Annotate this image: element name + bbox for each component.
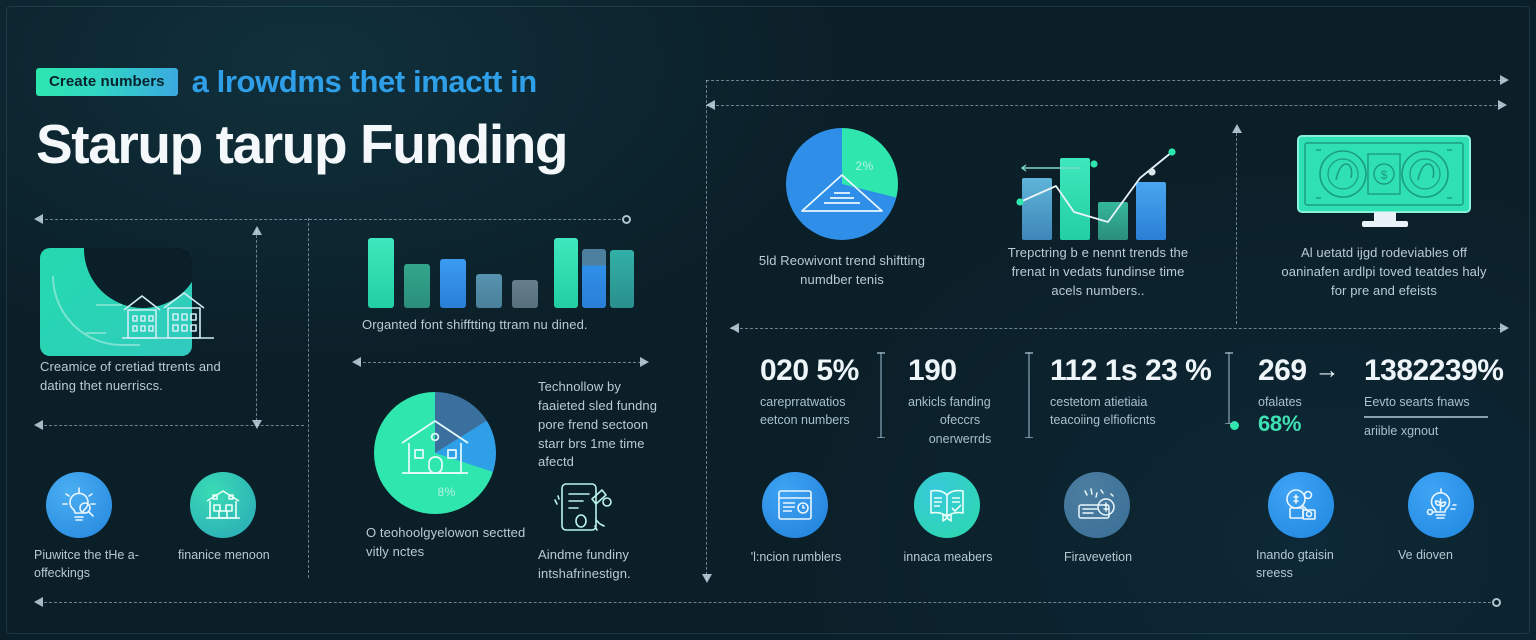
stat-divider-1 [880, 352, 882, 438]
stat-subtitle: Eevto searts fnaws [1364, 393, 1514, 412]
guide-arrow-left-mid-2-r [640, 357, 649, 367]
guide-arrow-top-left-2 [706, 100, 715, 110]
document-report-icon [774, 484, 816, 526]
icon-badge-open-book[interactable] [914, 472, 980, 538]
create-numbers-badge[interactable]: Create numbers [36, 68, 178, 96]
stat-item-2: 190 ankicls fanding ofeccrs onerwerrds [908, 355, 1012, 449]
bar-3 [440, 259, 466, 308]
icon-caption-bank-building: finanice menoon [178, 546, 298, 564]
pie-chart-right: 2% [786, 128, 898, 240]
icon-caption-search-money: Inando gtaisin sreess [1256, 546, 1366, 582]
eyebrow-text: a lrowdms thet imactt in [192, 64, 537, 100]
guide-node-bottom-right [1492, 598, 1501, 607]
stat-value: 269 [1258, 355, 1307, 387]
guide-arrow-left-vert-up [252, 226, 262, 235]
bar-2 [404, 264, 430, 308]
bar-4 [476, 274, 502, 308]
icon-caption-money-coin: Firavevetion [1038, 548, 1158, 566]
guide-line-left-vert [256, 230, 257, 426]
stat-sub-line: Eevto searts fnaws [1364, 393, 1514, 412]
guide-arrow-left-mid [34, 420, 43, 430]
combo-point-2 [1090, 160, 1097, 167]
pie-chart-left: 8% [374, 392, 496, 514]
guide-arrow-top-right-2 [1498, 100, 1507, 110]
icon-badge-lightbulb-plant[interactable] [1408, 472, 1474, 538]
combo-bar-line-chart [1012, 140, 1184, 240]
combo-chart-caption: Trepctring b e nennt trends the frenat i… [1000, 244, 1196, 301]
page-header: Create numbers a lrowdms thet imactt in … [36, 64, 676, 174]
combo-bar-4 [1136, 182, 1166, 240]
banknote-monitor-icon: $ [1296, 134, 1472, 228]
guide-line-vert-right [1236, 128, 1237, 324]
guide-arrow-bottom-left [34, 597, 43, 607]
guide-arrow-mid-right [1500, 323, 1509, 333]
guide-arrow-left-mid-2 [352, 357, 361, 367]
stat-sub-line: onerwerrds [908, 430, 1012, 449]
combo-point-4 [1148, 168, 1155, 175]
card-tick-2 [86, 332, 106, 334]
invoice-document-icon [552, 480, 614, 542]
guide-arrow-left-top [34, 214, 43, 224]
pie-right-label: 2% [855, 159, 873, 173]
guide-arrow-mid-left [730, 323, 739, 333]
invoice-caption: Aindme fundiny intshafrinestign. [538, 546, 664, 584]
lightbulb-idea-icon [58, 484, 100, 526]
icon-badge-document-report[interactable] [762, 472, 828, 538]
bar-8 [610, 250, 634, 308]
guide-line-left-top [40, 219, 626, 220]
stat-subtitle: careprratwatios eetcon numbers [760, 393, 880, 431]
stat-value: 1382239% [1364, 355, 1514, 387]
stat-rule-label: ariible xgnout [1364, 422, 1514, 441]
bank-building-icon [202, 484, 244, 526]
guide-arrow-vert-up [1232, 124, 1242, 133]
money-coin-icon [1075, 485, 1119, 525]
icon-caption-lightbulb-plant: Ve dioven [1398, 546, 1508, 564]
icon-caption-document-report: 'l:ncion rumblers [736, 548, 856, 566]
icon-caption-lightbulb-idea: Piuwitce the tHe a-offeckings [34, 546, 154, 582]
stat-arrow-icon: → [1315, 358, 1340, 383]
stat-sub-line: teacoiing elfioficnts [1050, 411, 1210, 430]
buildings-icon [120, 288, 216, 346]
pie-left-caption: O teohoolgyelowon sectted vitly nctes [366, 524, 526, 562]
icon-badge-bank-building[interactable] [190, 472, 256, 538]
guide-line-vert-center-lower [706, 330, 707, 580]
stat-sub-line: cestetom atietiaia [1050, 393, 1210, 412]
guide-line-left-vert-2 [308, 218, 309, 578]
guide-arrow-vert-down [702, 574, 712, 583]
infographic-canvas: Create numbers a lrowdms thet imactt in … [0, 0, 1536, 640]
eyebrow-row: Create numbers a lrowdms thet imactt in [36, 64, 676, 100]
stat-value: 020 5% [760, 355, 880, 387]
search-money-icon [1280, 484, 1322, 526]
guide-line-left-mid-2 [358, 362, 646, 363]
guide-line-mid-right [730, 328, 1506, 329]
stat-sub-line: eetcon numbers [760, 411, 880, 430]
stat-sub-line: ankicls fanding [908, 393, 1012, 412]
svg-text:$: $ [1381, 168, 1388, 182]
stat-sub-line: careprratwatios [760, 393, 880, 412]
open-book-icon [925, 485, 969, 525]
guide-arrow-top-right [1500, 75, 1509, 85]
icon-badge-money-coin[interactable] [1064, 472, 1130, 538]
house-icon [398, 417, 472, 479]
stat-value: 190 [908, 355, 1012, 387]
lightbulb-plant-icon [1420, 484, 1462, 526]
money-monitor-caption: Al uetatd ijgd rodeviables off oaninafen… [1276, 244, 1492, 301]
pie-right-caption: 5ld Reowivont trend shiftting numdber te… [752, 252, 932, 290]
guide-line-top-right [706, 80, 1506, 81]
stat-item-3: 112 1s 23 % cestetom atietiaia teacoiing… [1050, 355, 1210, 430]
combo-point-3 [1168, 148, 1175, 155]
guide-line-top-right-2 [706, 105, 1502, 106]
combo-bar-1 [1022, 178, 1052, 240]
guide-line-vert-center [706, 80, 707, 330]
icon-badge-search-money[interactable] [1268, 472, 1334, 538]
combo-point-1 [1016, 198, 1023, 205]
stat-underline [1364, 416, 1488, 418]
stat-item-5: 1382239% Eevto searts fnaws ariible xgno… [1364, 355, 1514, 441]
stat-divider-3 [1228, 352, 1230, 424]
icon-badge-lightbulb-idea[interactable] [46, 472, 112, 538]
stat-divider-2 [1028, 352, 1030, 438]
guide-line-bottom [44, 602, 1496, 603]
mid-note-text: Technollow by faaieted sled fundng pore … [538, 378, 662, 472]
bar-chart-caption: Organted font shifftting ttram nu dined. [362, 316, 652, 335]
icon-caption-open-book: innaca meabers [888, 548, 1008, 566]
stat-sub-line: ofeccrs [908, 411, 1012, 430]
stat-item-1: 020 5% careprratwatios eetcon numbers [760, 355, 880, 430]
bar-7 [582, 249, 606, 308]
page-title: Starup tarup Funding [36, 116, 676, 174]
hero-caption: Creamice of cretiad ttrents and dating t… [40, 358, 250, 396]
stat-value: 112 1s 23 % [1050, 355, 1210, 387]
card-tick-1 [96, 304, 122, 306]
stat-subtitle: ankicls fanding ofeccrs onerwerrds [908, 393, 1012, 449]
pie-left-label: 8% [437, 485, 455, 499]
bar-1 [368, 238, 394, 308]
bar-6 [554, 238, 578, 308]
bar-5 [512, 280, 538, 308]
stat-subtitle: cestetom atietiaia teacoiing elfioficnts [1050, 393, 1210, 431]
bar-chart [368, 238, 626, 308]
guide-node-left-top [622, 215, 631, 224]
guide-line-left-mid [44, 425, 304, 426]
